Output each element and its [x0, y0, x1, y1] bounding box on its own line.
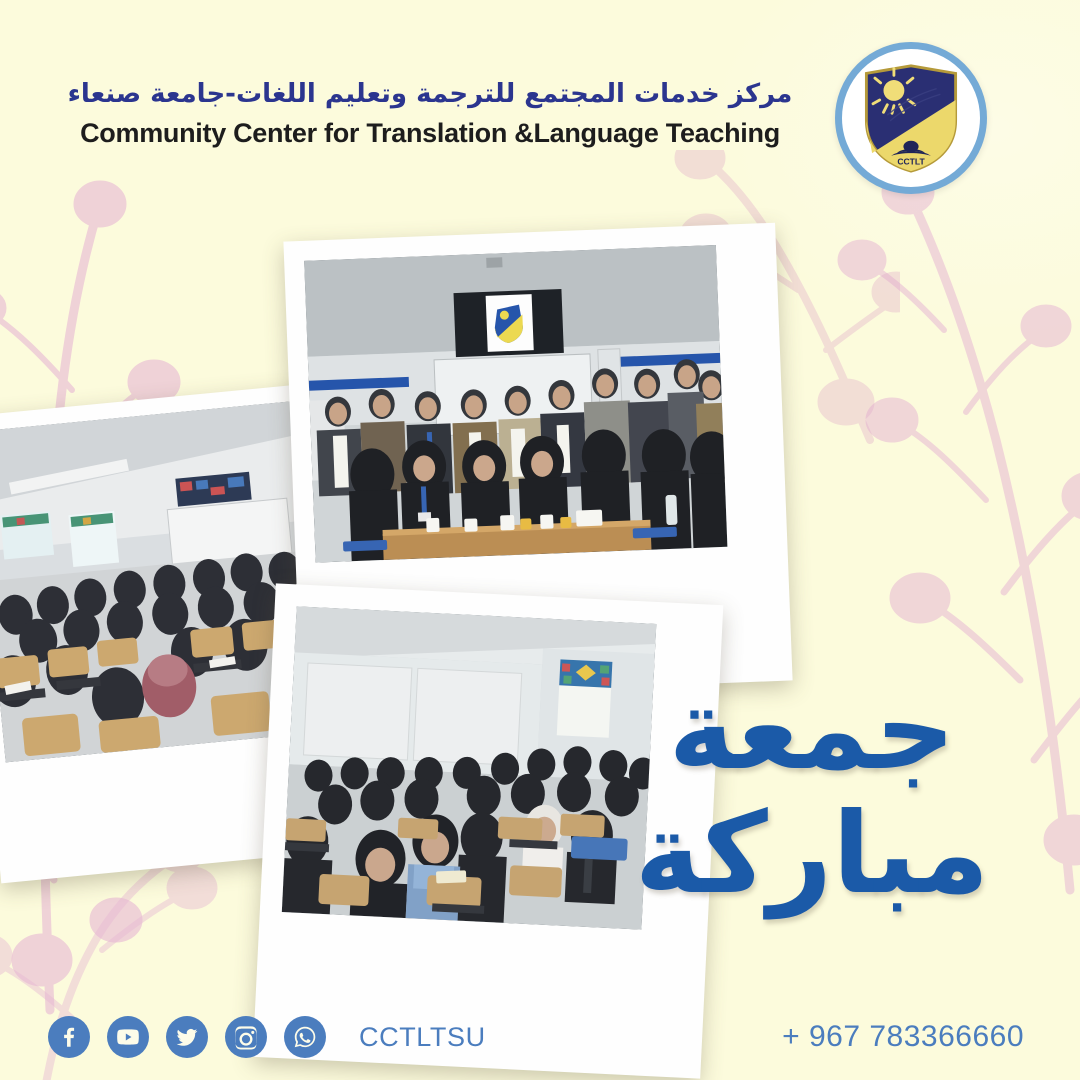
center-title-english: Community Center for Translation &Langua… — [60, 118, 800, 149]
whatsapp-icon[interactable] — [284, 1016, 326, 1058]
footer: CCTLTSU + 967 783366660 — [0, 984, 1080, 1080]
instagram-icon[interactable] — [225, 1016, 267, 1058]
group-portrait-illustration — [304, 245, 727, 563]
greeting-line-1: جمعة — [602, 676, 1022, 786]
twitter-icon[interactable] — [166, 1016, 208, 1058]
greeting-line-2: مباركة — [602, 800, 1022, 910]
poster-canvas: مركز خدمات المجتمع للترجمة وتعليم اللغات… — [0, 0, 1080, 1080]
photo-image-area — [304, 245, 727, 563]
youtube-icon[interactable] — [107, 1016, 149, 1058]
classroom-audience-illustration — [282, 606, 657, 929]
shield-crest-icon: CCTLT — [857, 62, 965, 174]
center-title-arabic: مركز خدمات المجتمع للترجمة وتعليم اللغات… — [60, 78, 800, 111]
photo-image-area — [282, 606, 657, 929]
facebook-icon[interactable] — [48, 1016, 90, 1058]
header: مركز خدمات المجتمع للترجمة وتعليم اللغات… — [0, 0, 1080, 215]
header-text-block: مركز خدمات المجتمع للترجمة وتعليم اللغات… — [60, 78, 800, 149]
social-handle: CCTLTSU — [359, 1022, 486, 1053]
phone-number: + 967 783366660 — [782, 1020, 1024, 1054]
cctlt-shield-logo: CCTLT — [835, 42, 987, 194]
friday-greeting: جمعة مباركة — [602, 676, 1022, 910]
social-links: CCTLTSU — [48, 1016, 486, 1058]
logo-monogram: CCTLT — [897, 157, 925, 167]
